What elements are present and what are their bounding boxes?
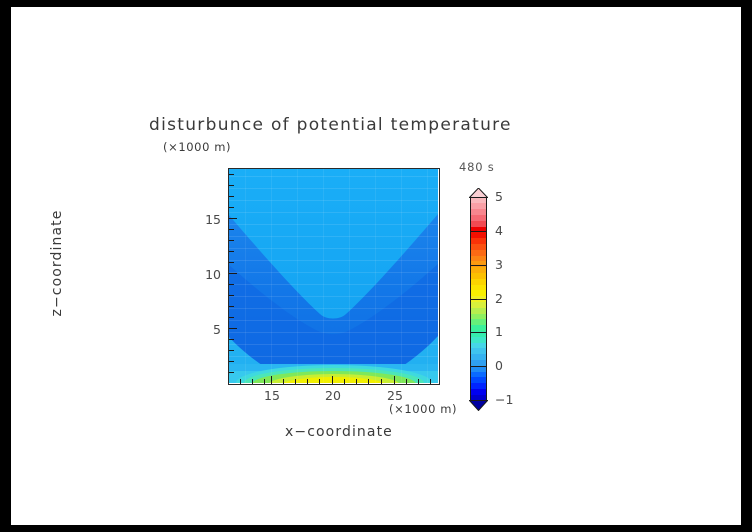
colorbar-tick-label: 2 <box>495 291 503 306</box>
y-axis-units: (×1000 m) <box>163 140 231 154</box>
colorbar-band <box>470 313 487 319</box>
colorbar-major-rule <box>470 265 487 266</box>
colorbar-band <box>470 243 487 249</box>
colorbar-band <box>470 209 487 215</box>
x-tick-label-25: 25 <box>380 388 410 403</box>
colorbar <box>470 197 487 400</box>
colorbar-band <box>470 203 487 209</box>
colorbar-band <box>470 278 487 284</box>
x-tick-label-20: 20 <box>318 388 348 403</box>
colorbar-tick-label: 3 <box>495 257 503 272</box>
colorbar-tick-label: 4 <box>495 223 503 238</box>
colorbar-band <box>470 388 487 394</box>
colorbar-band <box>470 336 487 342</box>
page-title: disturbunce of potential temperature <box>149 115 512 135</box>
colorbar-tick-label: 1 <box>495 324 503 339</box>
contour-field <box>228 168 438 383</box>
colorbar-band <box>470 290 487 296</box>
colorbar-band <box>470 354 487 360</box>
colorbar-major-rule <box>470 299 487 300</box>
y-tick-label-10: 10 <box>195 267 221 282</box>
colorbar-band <box>470 301 487 307</box>
x-axis-title: x−coordinate <box>285 424 393 440</box>
x-tick-label-15: 15 <box>257 388 287 403</box>
colorbar-major-rule <box>470 332 487 333</box>
colorbar-band <box>470 359 487 365</box>
y-axis-title: z−coordinate <box>49 193 65 333</box>
colorbar-band <box>470 342 487 348</box>
colorbar-band <box>470 319 487 325</box>
x-axis-units: (×1000 m) <box>389 402 457 416</box>
colorbar-band <box>470 232 487 238</box>
colorbar-band <box>470 307 487 313</box>
colorbar-tick-label: 0 <box>495 358 503 373</box>
colorbar-band <box>470 238 487 244</box>
time-label: 480 s <box>459 160 495 174</box>
y-tick-label-5: 5 <box>195 322 221 337</box>
screenshot-frame: disturbunce of potential temperature (×1… <box>0 0 752 532</box>
colorbar-band <box>470 214 487 220</box>
colorbar-tick-label: −1 <box>495 392 513 407</box>
colorbar-band <box>470 267 487 273</box>
colorbar-band <box>470 383 487 389</box>
colorbar-band <box>470 371 487 377</box>
colorbar-band <box>470 377 487 383</box>
colorbar-tick-label: 5 <box>495 189 503 204</box>
colorbar-band <box>470 325 487 331</box>
colorbar-major-rule <box>470 197 487 198</box>
plot-canvas: disturbunce of potential temperature (×1… <box>11 7 741 525</box>
colorbar-major-rule <box>470 366 487 367</box>
colorbar-major-rule <box>470 231 487 232</box>
colorbar-band <box>470 255 487 261</box>
y-tick-label-15: 15 <box>195 212 221 227</box>
colorbar-bottom-arrow <box>469 400 488 411</box>
colorbar-band <box>470 220 487 226</box>
colorbar-band <box>470 284 487 290</box>
colorbar-band <box>470 249 487 255</box>
contour-plot-area <box>228 168 438 383</box>
colorbar-band <box>470 348 487 354</box>
colorbar-band <box>470 272 487 278</box>
